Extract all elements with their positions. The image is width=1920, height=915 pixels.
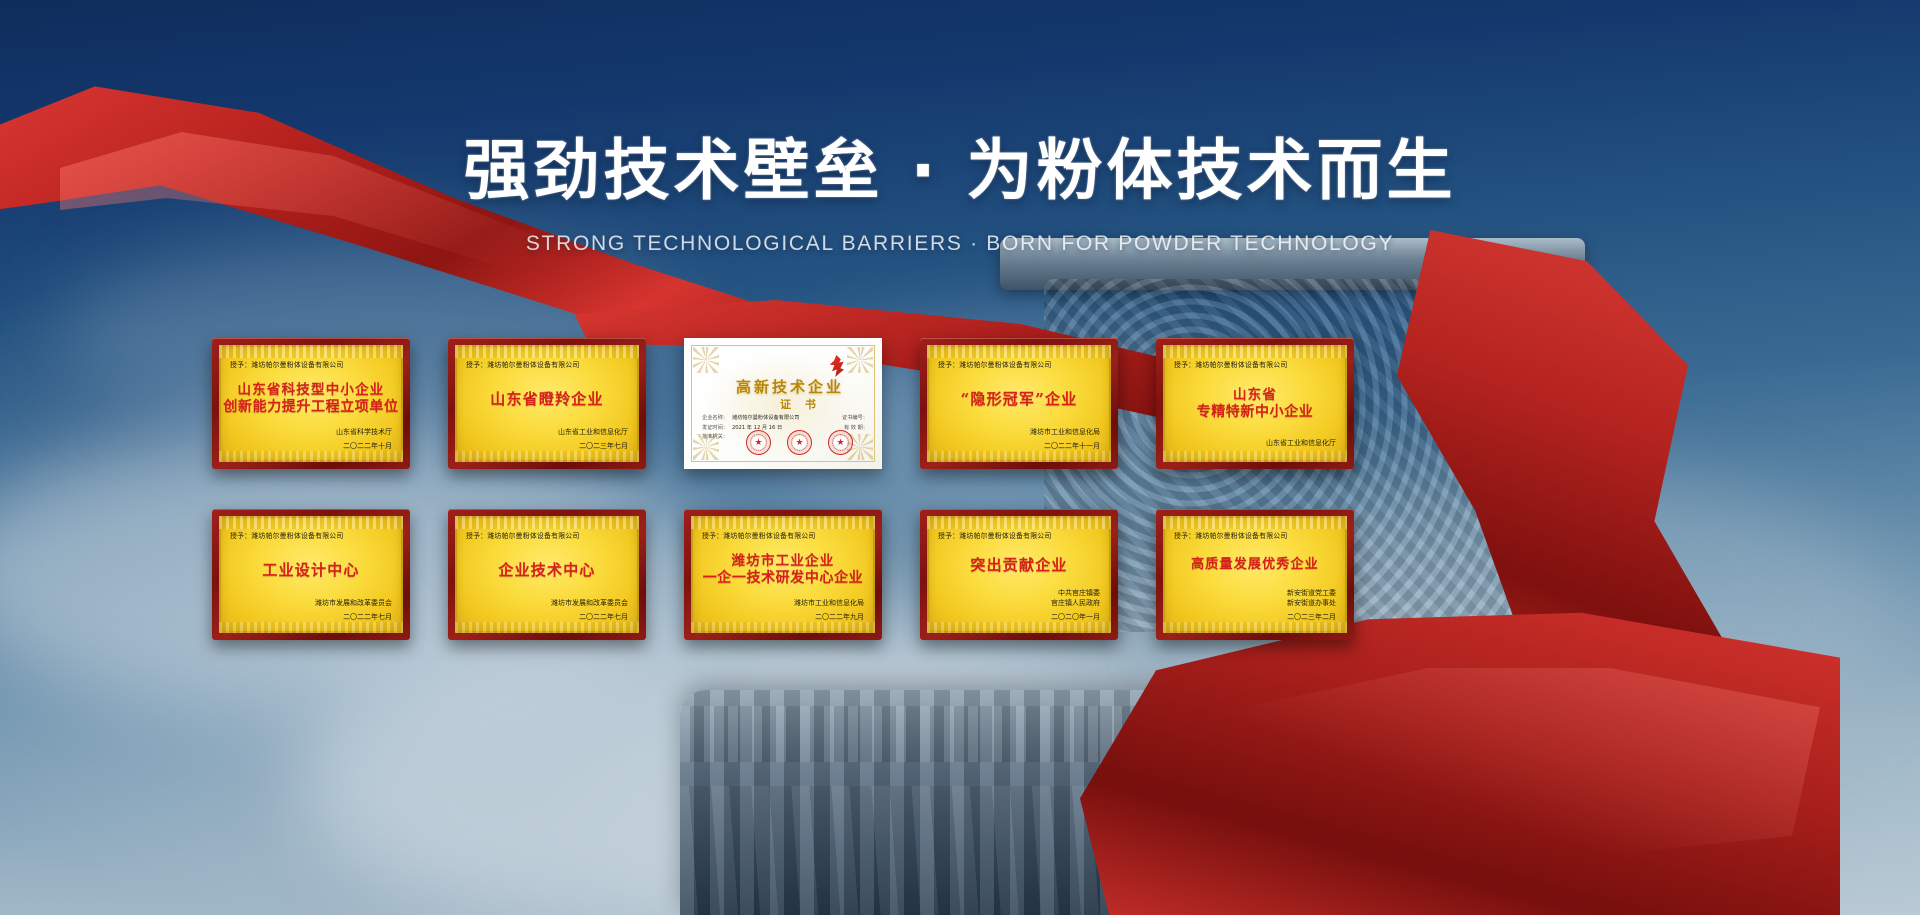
plaque-shandong-gazelle[interactable]: 授予：潍坊帕尔曼粉体设备有限公司 山东省瞪羚企业 山东省工业和信息化厅 二〇二三… [448,338,646,469]
certificate-title: 高新技术企业 [736,376,870,397]
plaque-date: 二〇二三年七月 [466,441,628,452]
plaque-face: 授予：潍坊帕尔曼粉体设备有限公司 工业设计中心 潍坊市发展和改革委员会 二〇二二… [219,516,403,633]
field-key: 发证时间： [702,424,728,434]
plaque-date: 二〇二〇年一月 [938,612,1100,623]
certificate-seals [746,430,853,455]
certificate-field-row: 企业名称： 潍坊帕尔曼粉体设备有限公司 证书编号： [702,414,868,424]
plaque-award-label: 授予：潍坊帕尔曼粉体设备有限公司 [1174,360,1330,370]
plaque-face: 授予：潍坊帕尔曼粉体设备有限公司 山东省科技型中小企业 创新能力提升工程立项单位… [219,345,403,462]
plaque-date: 二〇二二年十月 [230,441,392,452]
plaque-title: “隐形冠军”企业 [938,372,1100,427]
plaque-title-line1: 工业设计中心 [262,561,359,580]
plaque-issuer: 潍坊市发展和改革委员会 [466,598,628,609]
plaque-issuer: 中共官庄镇委 官庄镇人民政府 [938,588,1100,609]
plaque-title-line2: 创新能力提升工程立项单位 [223,399,398,417]
plaque-issuer: 潍坊市工业和信息化局 [938,427,1100,438]
plaque-enterprise-tech-center[interactable]: 授予：潍坊帕尔曼粉体设备有限公司 企业技术中心 潍坊市发展和改革委员会 二〇二二… [448,509,646,640]
official-seal-icon [828,430,853,455]
plaque-issuer: 新安街道党工委 新安街道办事处 [1174,588,1336,609]
plaque-award-label: 授予：潍坊帕尔曼粉体设备有限公司 [702,531,858,541]
certificate-high-tech-enterprise[interactable]: 高新技术企业 证 书 企业名称： 潍坊帕尔曼粉体设备有限公司 证书编号： 发证时… [684,338,882,469]
plaque-title-line1: 企业技术中心 [498,561,595,580]
plaque-title-line1: 高质量发展优秀企业 [1191,557,1319,574]
plaque-issuer: 潍坊市发展和改革委员会 [230,598,392,609]
plaque-issuer: 潍坊市工业和信息化局 [702,598,864,609]
plaque-award-label: 授予：潍坊帕尔曼粉体设备有限公司 [1174,531,1330,541]
plaque-title: 企业技术中心 [466,543,628,598]
banner-headline: 强劲技术壁垒 · 为粉体技术而生 [0,132,1920,210]
plaque-title-line1: 山东省科技型中小企业 [238,382,385,399]
gold-corner-ornament-icon [693,347,719,373]
plaque-face: 授予：潍坊帕尔曼粉体设备有限公司 高质量发展优秀企业 新安街道党工委 新安街道办… [1163,516,1347,633]
plaque-award-label: 授予：潍坊帕尔曼粉体设备有限公司 [466,360,622,370]
hero-banner: 强劲技术壁垒 · 为粉体技术而生 STRONG TECHNOLOGICAL BA… [0,0,1920,915]
stone-pedestal [680,690,1690,915]
plaque-face: 授予：潍坊帕尔曼粉体设备有限公司 “隐形冠军”企业 潍坊市工业和信息化局 二〇二… [927,345,1111,462]
plaque-award-label: 授予：潍坊帕尔曼粉体设备有限公司 [938,531,1094,541]
plaque-title-line1: 潍坊市工业企业 [732,553,835,570]
plaque-face: 授予：潍坊帕尔曼粉体设备有限公司 突出贡献企业 中共官庄镇委 官庄镇人民政府 二… [927,516,1111,633]
plaque-title: 山东省 专精特新中小企业 [1174,372,1336,438]
plaque-award-label: 授予：潍坊帕尔曼粉体设备有限公司 [230,360,386,370]
plaque-industrial-design-center[interactable]: 授予：潍坊帕尔曼粉体设备有限公司 工业设计中心 潍坊市发展和改革委员会 二〇二二… [212,509,410,640]
plaque-specialized-sme[interactable]: 授予：潍坊帕尔曼粉体设备有限公司 山东省 专精特新中小企业 山东省工业和信息化厅 [1156,338,1354,469]
plaque-title-line1: 突出贡献企业 [970,556,1067,575]
plaque-title: 高质量发展优秀企业 [1174,543,1336,588]
plaque-outstanding-contribution[interactable]: 授予：潍坊帕尔曼粉体设备有限公司 突出贡献企业 中共官庄镇委 官庄镇人民政府 二… [920,509,1118,640]
plaque-title-line2: 专精特新中小企业 [1197,404,1314,422]
plaque-issuer: 山东省工业和信息化厅 [466,427,628,438]
certificate-row-2: 授予：潍坊帕尔曼粉体设备有限公司 工业设计中心 潍坊市发展和改革委员会 二〇二二… [212,509,1612,640]
field-key: 企业名称： [702,414,728,424]
plaque-date: 二〇二二年七月 [230,612,392,623]
plaque-date: 二〇二二年九月 [702,612,864,623]
plaque-title: 山东省瞪羚企业 [466,372,628,427]
plaque-title: 突出贡献企业 [938,543,1100,588]
plaque-title-line1: 山东省 [1233,387,1277,404]
plaque-issuer: 山东省工业和信息化厅 [1174,438,1336,449]
plaque-title-line1: “隐形冠军”企业 [961,390,1078,409]
plaque-issuer: 山东省科学技术厅 [230,427,392,438]
field-key: 批准机关： [702,433,728,443]
plaque-award-label: 授予：潍坊帕尔曼粉体设备有限公司 [938,360,1094,370]
certificate-subtitle: 证 书 [780,396,821,412]
gold-corner-ornament-icon [847,347,873,373]
plaque-date: 二〇二二年十一月 [938,441,1100,452]
certificate-gallery: 授予：潍坊帕尔曼粉体设备有限公司 山东省科技型中小企业 创新能力提升工程立项单位… [212,338,1612,680]
plaque-date: 二〇二三年二月 [1174,612,1336,623]
plaque-face: 授予：潍坊帕尔曼粉体设备有限公司 山东省瞪羚企业 山东省工业和信息化厅 二〇二三… [455,345,639,462]
field-value: 潍坊帕尔曼粉体设备有限公司 [732,414,799,424]
banner-text-block: 强劲技术壁垒 · 为粉体技术而生 STRONG TECHNOLOGICAL BA… [0,132,1920,256]
plaque-hidden-champion[interactable]: 授予：潍坊帕尔曼粉体设备有限公司 “隐形冠军”企业 潍坊市工业和信息化局 二〇二… [920,338,1118,469]
plaque-title: 山东省科技型中小企业 创新能力提升工程立项单位 [230,372,392,427]
plaque-title: 工业设计中心 [230,543,392,598]
plaque-face: 授予：潍坊帕尔曼粉体设备有限公司 潍坊市工业企业 一企一技术研发中心企业 潍坊市… [691,516,875,633]
plaque-high-quality-development[interactable]: 授予：潍坊帕尔曼粉体设备有限公司 高质量发展优秀企业 新安街道党工委 新安街道办… [1156,509,1354,640]
plaque-face: 授予：潍坊帕尔曼粉体设备有限公司 企业技术中心 潍坊市发展和改革委员会 二〇二二… [455,516,639,633]
plaque-face: 授予：潍坊帕尔曼粉体设备有限公司 山东省 专精特新中小企业 山东省工业和信息化厅 [1163,345,1347,462]
certificate-row-1: 授予：潍坊帕尔曼粉体设备有限公司 山东省科技型中小企业 创新能力提升工程立项单位… [212,338,1612,469]
plaque-date: 二〇二二年七月 [466,612,628,623]
field-key2: 证书编号： [842,414,868,424]
official-seal-icon [787,430,812,455]
plaque-shandong-tech-sme[interactable]: 授予：潍坊帕尔曼粉体设备有限公司 山东省科技型中小企业 创新能力提升工程立项单位… [212,338,410,469]
plaque-award-label: 授予：潍坊帕尔曼粉体设备有限公司 [230,531,386,541]
banner-subheadline: STRONG TECHNOLOGICAL BARRIERS · BORN FOR… [0,232,1920,256]
plaque-title-line1: 山东省瞪羚企业 [490,390,603,409]
plaque-title: 潍坊市工业企业 一企一技术研发中心企业 [702,543,864,598]
official-seal-icon [746,430,771,455]
plaque-award-label: 授予：潍坊帕尔曼粉体设备有限公司 [466,531,622,541]
plaque-title-line2: 一企一技术研发中心企业 [703,570,864,588]
plaque-one-enterprise-one-tech-rd-center[interactable]: 授予：潍坊帕尔曼粉体设备有限公司 潍坊市工业企业 一企一技术研发中心企业 潍坊市… [684,509,882,640]
